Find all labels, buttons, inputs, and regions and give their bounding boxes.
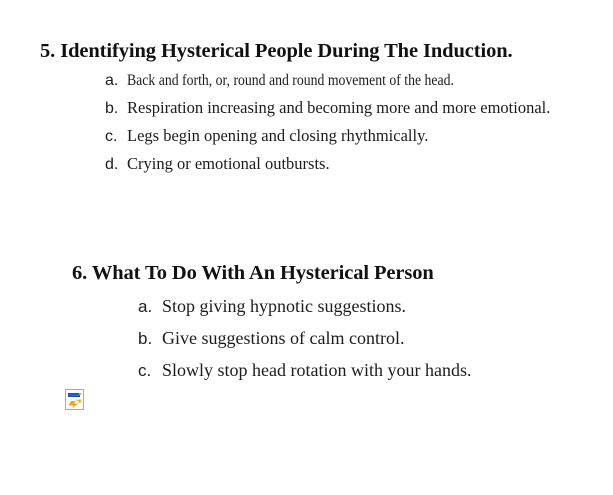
list-item-text: Slowly stop head rotation with your hand… — [162, 360, 613, 381]
list-item: c. Slowly stop head rotation with your h… — [138, 360, 613, 381]
section-6-list: a. Stop giving hypnotic suggestions. b. … — [0, 296, 613, 381]
section-6-heading: 6. What To Do With An Hysterical Person — [0, 262, 613, 285]
section-6: 6. What To Do With An Hysterical Person … — [0, 262, 613, 392]
list-item: d. Crying or emotional outbursts. — [105, 154, 613, 174]
list-item: b. Give suggestions of calm control. — [138, 328, 613, 349]
list-item-text: Respiration increasing and becoming more… — [127, 98, 613, 118]
list-item-text: Crying or emotional outbursts. — [127, 154, 613, 174]
list-item-marker: b. — [105, 100, 127, 118]
animation-dot-icon — [79, 393, 81, 395]
list-item-marker: c. — [105, 128, 127, 146]
list-item: a. Stop giving hypnotic suggestions. — [138, 296, 613, 317]
animation-bolt-icon[interactable] — [65, 389, 84, 410]
list-item-text: Back and forth, or, round and round move… — [127, 72, 545, 90]
list-item: a. Back and forth, or, round and round m… — [105, 72, 613, 90]
list-item-marker: a. — [105, 72, 127, 90]
list-item-marker: b. — [138, 329, 162, 349]
list-item-marker: c. — [138, 361, 162, 381]
section-5: 5. Identifying Hysterical People During … — [0, 40, 613, 182]
list-item: b. Respiration increasing and becoming m… — [105, 98, 613, 118]
list-item-marker: a. — [138, 297, 162, 317]
slide-canvas: 5. Identifying Hysterical People During … — [0, 0, 613, 495]
section-5-heading: 5. Identifying Hysterical People During … — [0, 40, 613, 63]
section-5-list: a. Back and forth, or, round and round m… — [0, 72, 613, 174]
list-item-text: Give suggestions of calm control. — [162, 328, 613, 349]
list-item: c. Legs begin opening and closing rhythm… — [105, 126, 613, 146]
list-item-text: Stop giving hypnotic suggestions. — [162, 296, 613, 317]
list-item-text: Legs begin opening and closing rhythmica… — [127, 126, 613, 146]
bolt-glyph-icon — [68, 399, 82, 408]
list-item-marker: d. — [105, 156, 127, 174]
